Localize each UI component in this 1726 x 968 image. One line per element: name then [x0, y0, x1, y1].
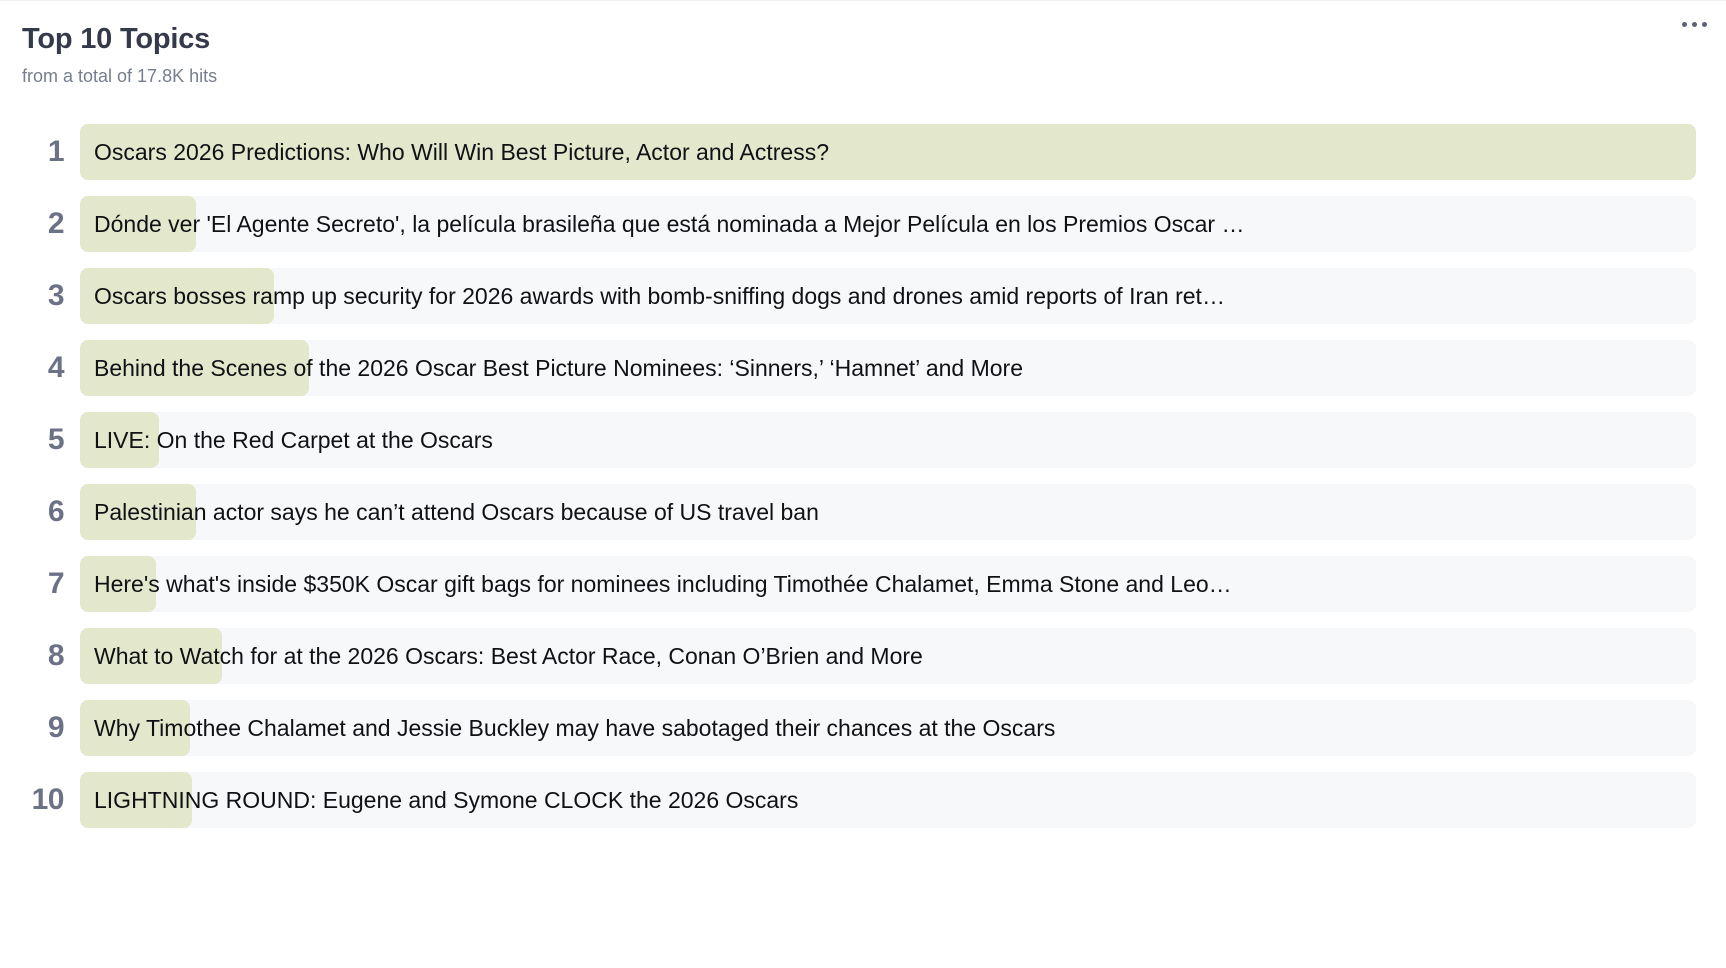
card-subtitle: from a total of 17.8K hits — [22, 66, 1726, 88]
topic-rank: 4 — [0, 353, 80, 383]
topic-label: Why Timothee Chalamet and Jessie Buckley… — [80, 714, 1071, 743]
topic-row[interactable]: 1Oscars 2026 Predictions: Who Will Win B… — [0, 116, 1696, 188]
topic-rank: 1 — [0, 137, 80, 167]
topic-list: 1Oscars 2026 Predictions: Who Will Win B… — [0, 116, 1726, 836]
topic-label: Here's what's inside $350K Oscar gift ba… — [80, 570, 1248, 599]
menu-dot — [1682, 22, 1687, 27]
topic-label: Oscars 2026 Predictions: Who Will Win Be… — [80, 138, 845, 167]
topic-rank: 5 — [0, 425, 80, 455]
topic-label: Dónde ver 'El Agente Secreto', la pelícu… — [80, 210, 1260, 239]
topic-rank: 3 — [0, 281, 80, 311]
topic-bar[interactable]: LIVE: On the Red Carpet at the Oscars — [80, 412, 1696, 468]
topic-label: Palestinian actor says he can’t attend O… — [80, 498, 835, 527]
topic-bar[interactable]: Behind the Scenes of the 2026 Oscar Best… — [80, 340, 1696, 396]
topic-label: LIGHTNING ROUND: Eugene and Symone CLOCK… — [80, 786, 814, 815]
topic-row[interactable]: 9Why Timothee Chalamet and Jessie Buckle… — [0, 692, 1696, 764]
topic-rank: 8 — [0, 641, 80, 671]
page-title: Top 10 Topics — [22, 23, 1726, 56]
topic-row[interactable]: 4Behind the Scenes of the 2026 Oscar Bes… — [0, 332, 1696, 404]
topic-bar[interactable]: Dónde ver 'El Agente Secreto', la pelícu… — [80, 196, 1696, 252]
topic-row[interactable]: 2Dónde ver 'El Agente Secreto', la pelíc… — [0, 188, 1696, 260]
topic-rank: 10 — [0, 785, 80, 815]
topic-bar[interactable]: Here's what's inside $350K Oscar gift ba… — [80, 556, 1696, 612]
topic-rank: 2 — [0, 209, 80, 239]
menu-dot — [1692, 22, 1697, 27]
topic-bar[interactable]: LIGHTNING ROUND: Eugene and Symone CLOCK… — [80, 772, 1696, 828]
topic-row[interactable]: 5LIVE: On the Red Carpet at the Oscars — [0, 404, 1696, 476]
topic-row[interactable]: 10LIGHTNING ROUND: Eugene and Symone CLO… — [0, 764, 1696, 836]
topic-label: Oscars bosses ramp up security for 2026 … — [80, 282, 1241, 311]
topic-row[interactable]: 7Here's what's inside $350K Oscar gift b… — [0, 548, 1696, 620]
card-header: Top 10 Topics from a total of 17.8K hits — [0, 1, 1726, 88]
menu-dot — [1702, 22, 1707, 27]
topic-rank: 6 — [0, 497, 80, 527]
topic-label: LIVE: On the Red Carpet at the Oscars — [80, 426, 509, 455]
top-topics-card: Top 10 Topics from a total of 17.8K hits… — [0, 0, 1726, 968]
topic-bar[interactable]: Why Timothee Chalamet and Jessie Buckley… — [80, 700, 1696, 756]
topic-label: Behind the Scenes of the 2026 Oscar Best… — [80, 354, 1039, 383]
ellipsis-horizontal-icon[interactable] — [1676, 9, 1712, 39]
topic-row[interactable]: 3Oscars bosses ramp up security for 2026… — [0, 260, 1696, 332]
topic-bar[interactable]: What to Watch for at the 2026 Oscars: Be… — [80, 628, 1696, 684]
topic-label: What to Watch for at the 2026 Oscars: Be… — [80, 642, 939, 671]
topic-row[interactable]: 6Palestinian actor says he can’t attend … — [0, 476, 1696, 548]
topic-bar[interactable]: Oscars bosses ramp up security for 2026 … — [80, 268, 1696, 324]
topic-rank: 7 — [0, 569, 80, 599]
topic-bar[interactable]: Palestinian actor says he can’t attend O… — [80, 484, 1696, 540]
topic-bar[interactable]: Oscars 2026 Predictions: Who Will Win Be… — [80, 124, 1696, 180]
topic-rank: 9 — [0, 713, 80, 743]
topic-row[interactable]: 8What to Watch for at the 2026 Oscars: B… — [0, 620, 1696, 692]
